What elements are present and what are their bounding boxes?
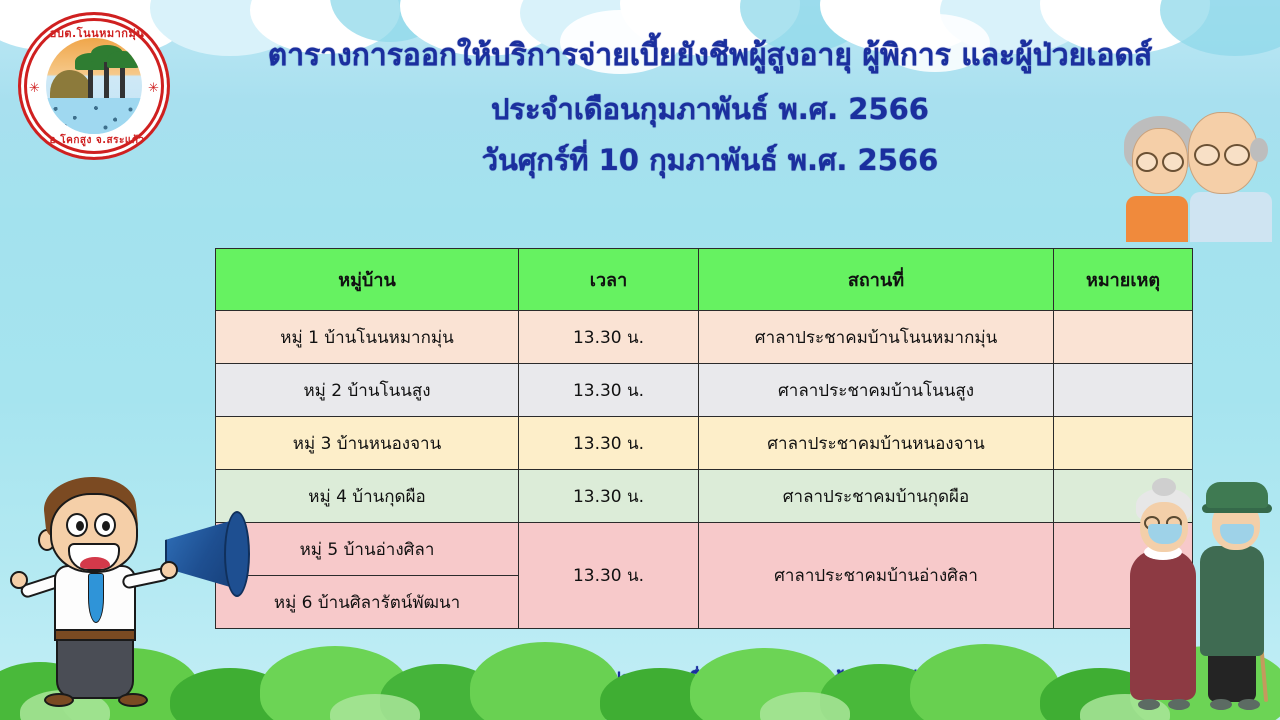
- cell-time-merged: 13.30 น.: [519, 523, 699, 629]
- table-row: หมู่ 2 บ้านโนนสูง 13.30 น. ศาลาประชาคมบ้…: [216, 364, 1193, 417]
- grandmother-dress: [1130, 550, 1196, 700]
- grandmother-shoe-left: [1138, 699, 1160, 710]
- cartoon-announcer-boy: [10, 453, 225, 718]
- seal-star-right-icon: ✳: [148, 81, 159, 96]
- cell-place: ศาลาประชาคมบ้านโนนสูง: [699, 364, 1054, 417]
- boy-right-hand: [160, 561, 178, 579]
- seal-palm-icon-1: [88, 66, 93, 100]
- elderly-man-shirt: [1190, 192, 1272, 242]
- elderly-woman-glasses-right: [1162, 152, 1184, 172]
- cell-village: หมู่ 6 บ้านศิลารัตน์พัฒนา: [216, 576, 519, 629]
- cell-note: [1054, 364, 1193, 417]
- grandmother-shoe-right: [1168, 699, 1190, 710]
- column-header-village: หมู่บ้าน: [216, 249, 519, 311]
- cell-time: 13.30 น.: [519, 311, 699, 364]
- elderly-woman-top: [1126, 196, 1188, 242]
- cell-village: หมู่ 1 บ้านโนนหมากมุ่น: [216, 311, 519, 364]
- column-header-place: สถานที่: [699, 249, 1054, 311]
- boy-belt: [54, 629, 136, 641]
- table-row: หมู่ 1 บ้านโนนหมากมุ่น 13.30 น. ศาลาประช…: [216, 311, 1193, 364]
- megaphone-rim-icon: [224, 511, 250, 597]
- cell-place: ศาลาประชาคมบ้านกุดผือ: [699, 470, 1054, 523]
- title-line-2: ประจำเดือนกุมภาพันธ์ พ.ศ. 2566: [180, 92, 1240, 127]
- column-header-note: หมายเหตุ: [1054, 249, 1193, 311]
- column-header-time: เวลา: [519, 249, 699, 311]
- grandfather-shoe-right: [1238, 699, 1260, 710]
- seal-star-left-icon: ✳: [29, 81, 40, 96]
- table-header-row: หมู่บ้าน เวลา สถานที่ หมายเหตุ: [216, 249, 1193, 311]
- seal-emblem-scene: [46, 38, 142, 134]
- cell-time: 13.30 น.: [519, 470, 699, 523]
- boy-pupil-right: [102, 521, 110, 531]
- title-line-1: ตารางการออกให้บริการจ่ายเบี้ยยังชีพผู้สู…: [180, 38, 1240, 74]
- boy-pupil-left: [76, 521, 84, 531]
- grandfather-hat-icon: [1206, 482, 1268, 508]
- boy-tongue: [80, 557, 110, 571]
- cell-time: 13.30 น.: [519, 364, 699, 417]
- cell-place-merged: ศาลาประชาคมบ้านอ่างศิลา: [699, 523, 1054, 629]
- cell-note: [1054, 417, 1193, 470]
- elderly-man-glasses-left: [1194, 144, 1220, 166]
- boy-left-hand: [10, 571, 28, 589]
- boy-mouth: [68, 543, 120, 571]
- grandmother-hair-bun: [1152, 478, 1176, 496]
- boy-shoe-right: [118, 693, 148, 707]
- elderly-man-side-hair: [1250, 138, 1268, 162]
- seal-water-icon: [46, 98, 142, 134]
- seal-hill-icon: [50, 70, 92, 100]
- cell-village: หมู่ 2 บ้านโนนสูง: [216, 364, 519, 417]
- elderly-couple-portrait: [1124, 92, 1274, 240]
- cell-place: ศาลาประชาคมบ้านโนนหมากมุ่น: [699, 311, 1054, 364]
- grandfather-shoe-left: [1210, 699, 1232, 710]
- elderly-man-glasses-right: [1224, 144, 1250, 166]
- cell-village: หมู่ 4 บ้านกุดผือ: [216, 470, 519, 523]
- boy-necktie: [88, 573, 104, 623]
- grandfather-jacket: [1200, 546, 1264, 656]
- elderly-couple-with-canes: [1124, 466, 1276, 718]
- boy-pants: [56, 639, 134, 699]
- cell-time: 13.30 น.: [519, 417, 699, 470]
- municipality-seal-logo: อบต.โนนหมากมุ่น อ.โคกสูง จ.สระแก้ว ✳ ✳: [18, 12, 170, 160]
- seal-palm-icon-3: [120, 64, 125, 100]
- cell-note: [1054, 311, 1193, 364]
- boy-shoe-left: [44, 693, 74, 707]
- table-row: หมู่ 3 บ้านหนองจาน 13.30 น. ศาลาประชาคมบ…: [216, 417, 1193, 470]
- poster-canvas: อบต.โนนหมากมุ่น อ.โคกสูง จ.สระแก้ว ✳ ✳ ต…: [0, 0, 1280, 720]
- table-row: หมู่ 5 บ้านอ่างศิลา 13.30 น. ศาลาประชาคม…: [216, 523, 1193, 576]
- seal-bottom-text: อ.โคกสูง จ.สระแก้ว: [21, 133, 170, 148]
- cell-village: หมู่ 5 บ้านอ่างศิลา: [216, 523, 519, 576]
- cell-place: ศาลาประชาคมบ้านหนองจาน: [699, 417, 1054, 470]
- elderly-woman-glasses-left: [1136, 152, 1158, 172]
- cell-village: หมู่ 3 บ้านหนองจาน: [216, 417, 519, 470]
- service-schedule-table: หมู่บ้าน เวลา สถานที่ หมายเหตุ หมู่ 1 บ้…: [215, 248, 1193, 629]
- table-row: หมู่ 4 บ้านกุดผือ 13.30 น. ศาลาประชาคมบ้…: [216, 470, 1193, 523]
- title-line-3: วันศุกร์ที่ 10 กุมภาพันธ์ พ.ศ. 2566: [180, 143, 1240, 178]
- poster-headings: ตารางการออกให้บริการจ่ายเบี้ยยังชีพผู้สู…: [180, 38, 1240, 178]
